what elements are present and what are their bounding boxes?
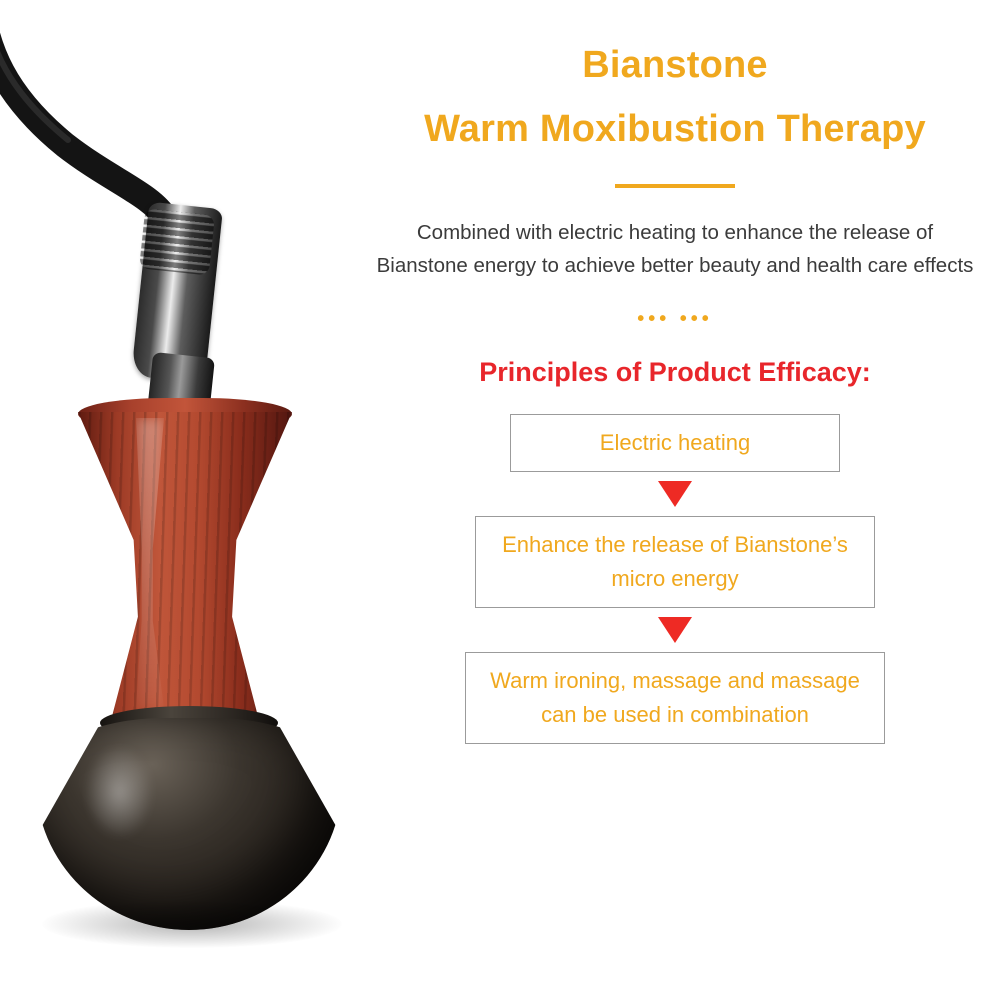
dc-plug-strain-relief	[139, 209, 215, 276]
stone-base-highlight	[84, 744, 154, 840]
flow-step-1: Electric heating	[510, 414, 840, 472]
section-heading: Principles of Product Efficacy:	[350, 357, 1000, 388]
down-arrow-icon-2	[658, 617, 692, 643]
content-column: Bianstone Warm Moxibustion Therapy Combi…	[350, 0, 1000, 1000]
bianstone-base	[36, 718, 342, 930]
dot-divider: ••• •••	[350, 308, 1000, 331]
handle-body	[78, 412, 292, 732]
subtitle-text: Combined with electric heating to enhanc…	[375, 216, 975, 282]
title-underline	[615, 184, 735, 188]
title-line-2: Warm Moxibustion Therapy	[350, 106, 1000, 152]
efficacy-flow-diagram: Electric heating Enhance the release of …	[350, 414, 1000, 744]
flow-step-3: Warm ironing, massage and massage can be…	[465, 652, 885, 744]
red-wood-handle	[78, 398, 292, 738]
drop-shadow	[42, 900, 342, 948]
down-arrow-icon-1	[658, 481, 692, 507]
product-infographic-page: Bianstone Warm Moxibustion Therapy Combi…	[0, 0, 1000, 1000]
flow-step-2: Enhance the release of Bianstone’s micro…	[475, 516, 875, 608]
page-title: Bianstone Warm Moxibustion Therapy	[350, 42, 1000, 152]
product-photo	[0, 0, 400, 1000]
title-line-1: Bianstone	[350, 42, 1000, 88]
